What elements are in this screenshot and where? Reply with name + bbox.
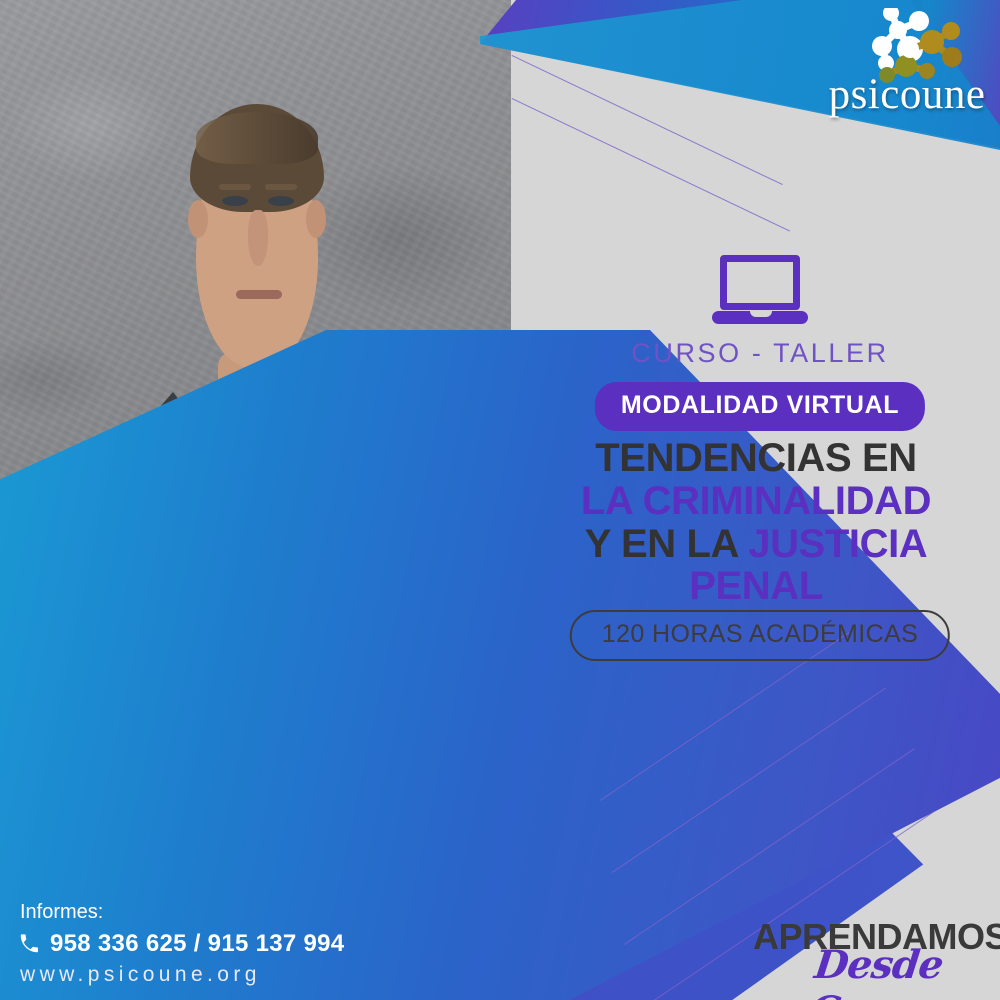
ear-right: [306, 200, 326, 238]
ear-left: [188, 200, 208, 238]
laptop-notch: [750, 310, 772, 317]
title-line-3-part-a: Y EN LA: [585, 522, 749, 566]
course-info-panel: CURSO - TALLER MODALIDAD VIRTUAL TENDENC…: [520, 0, 1000, 1000]
phone-contact-row[interactable]: 958 336 625 / 915 137 994: [18, 930, 344, 958]
eye-left: [222, 196, 248, 206]
title-line-3-part-b: JUSTICIA: [748, 522, 927, 566]
title-line-1: TENDENCIAS EN: [516, 437, 996, 480]
eye-right: [268, 196, 294, 206]
academic-hours-badge: 120 HORAS ACADÉMICAS: [570, 610, 950, 661]
title-line-4: PENAL: [516, 565, 996, 608]
laptop-screen: [720, 255, 800, 310]
informes-label: Informes:: [20, 901, 103, 924]
title-line-2: LA CRIMINALIDAD: [516, 480, 996, 523]
title-line-3: Y EN LA JUSTICIA: [516, 523, 996, 566]
tagline-line-2: Desde Casa: [806, 942, 1000, 1000]
laptop-icon: [712, 255, 808, 329]
phone-icon: [18, 933, 40, 955]
mouth: [236, 290, 282, 299]
course-title: TENDENCIAS EN LA CRIMINALIDAD Y EN LA JU…: [516, 437, 996, 608]
course-type-label: CURSO - TALLER: [520, 338, 1000, 369]
eyebrow-right: [265, 184, 297, 190]
modality-badge: MODALIDAD VIRTUAL: [595, 382, 925, 431]
nose: [248, 210, 268, 266]
eyebrow-left: [219, 184, 251, 190]
phone-numbers: 958 336 625 / 915 137 994: [50, 930, 344, 958]
website-url[interactable]: www.psicoune.org: [20, 963, 261, 987]
promotional-flyer: psicoune CURSO - TALLER MODALIDAD VIRTUA…: [0, 0, 1000, 1000]
hair: [190, 104, 324, 212]
